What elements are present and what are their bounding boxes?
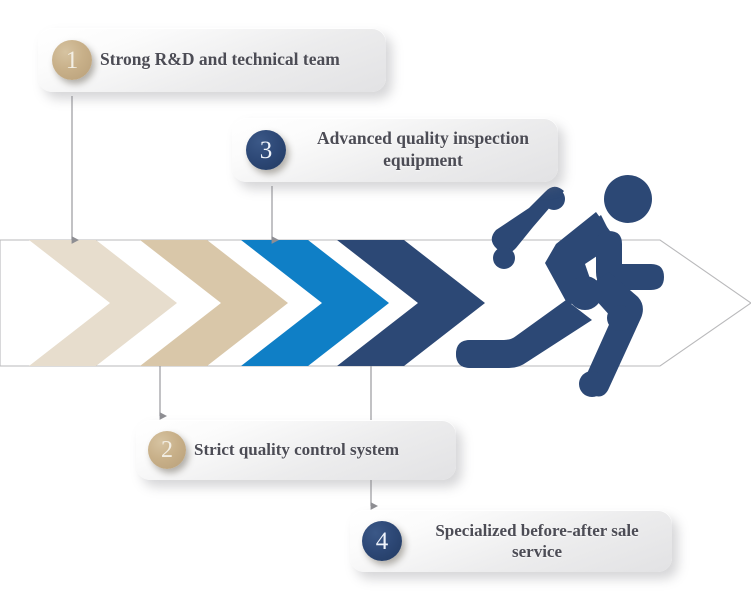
callout-number-badge-4: 4 xyxy=(362,521,402,561)
infographic-canvas: 1 Strong R&D and technical team 3 Advanc… xyxy=(0,0,751,604)
callout-number-badge-1: 1 xyxy=(52,40,92,80)
callout-box-4[interactable]: 4 Specialized before-after sale service xyxy=(350,510,672,572)
callout-box-3[interactable]: 3 Advanced quality inspection equipment xyxy=(232,118,558,182)
callout-label-3: Advanced quality inspection equipment xyxy=(294,118,552,182)
callout-box-1[interactable]: 1 Strong R&D and technical team xyxy=(38,28,386,92)
callout-label-2: Strict quality control system xyxy=(194,420,448,480)
callout-number-badge-3: 3 xyxy=(246,130,286,170)
callout-label-4: Specialized before-after sale service xyxy=(410,510,664,572)
callout-label-1: Strong R&D and technical team xyxy=(100,28,382,92)
callout-number-badge-2: 2 xyxy=(148,431,186,469)
callout-box-2[interactable]: 2 Strict quality control system xyxy=(136,420,456,480)
